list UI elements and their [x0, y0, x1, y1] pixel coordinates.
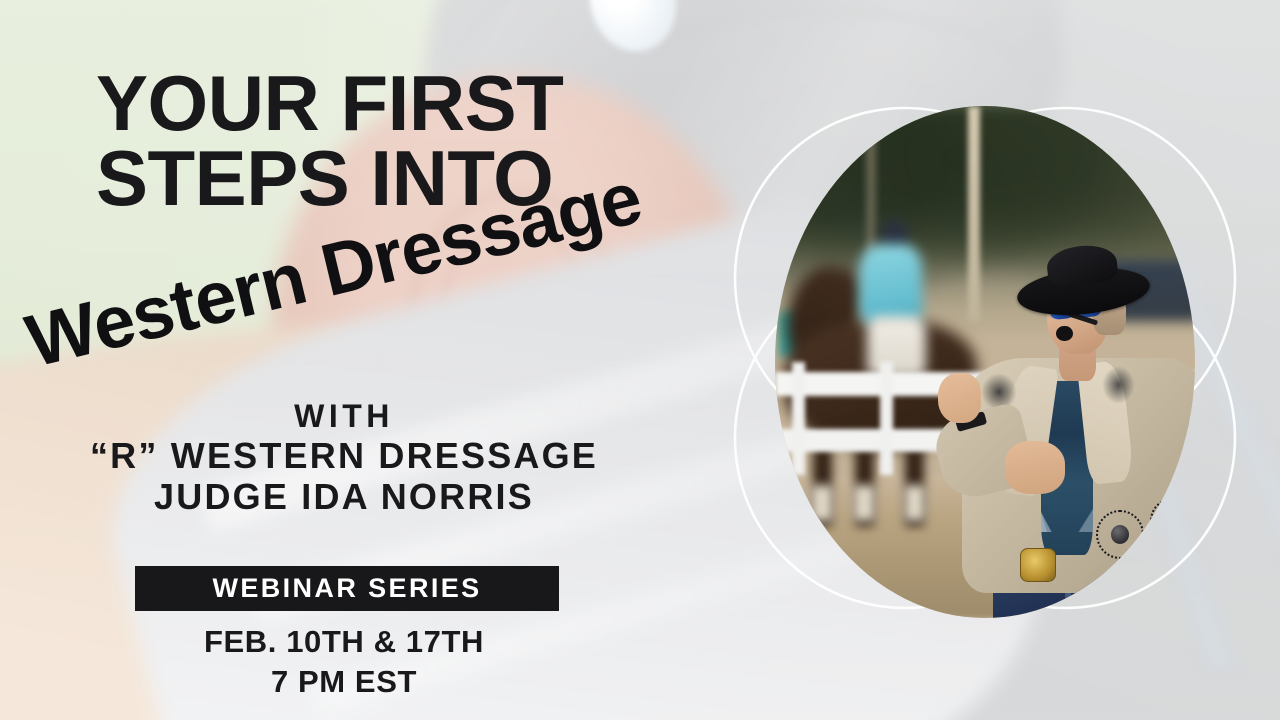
photo-jacket-embroidery-right: [1102, 366, 1135, 404]
webinar-series-badge-label: WEBINAR SERIES: [212, 573, 481, 604]
schedule-block: FEB. 10TH & 17TH 7 PM EST: [0, 622, 688, 703]
photo-rider-breeches: [867, 316, 926, 377]
photo-speaker-hands-clasped: [1005, 441, 1065, 494]
photo-jacket-concho-1: [1111, 525, 1129, 544]
headline-line-1: YOUR FIRST: [96, 66, 716, 141]
schedule-dates: FEB. 10TH & 17TH: [0, 622, 688, 662]
photo-horse-sock-3: [904, 485, 925, 521]
presenter-title-line: “R” WESTERN DRESSAGE: [0, 435, 688, 476]
photo-speaker-belt-buckle: [1020, 548, 1056, 582]
photo-jacket-concho-2: [1165, 512, 1182, 529]
presenter-name-line: JUDGE IDA NORRIS: [0, 476, 688, 517]
photo-speaker-hand-raised: [938, 373, 980, 422]
webinar-series-badge: WEBINAR SERIES: [135, 566, 559, 611]
photo-horse-sock-1: [811, 485, 833, 521]
photo-speaker-headset-mic: [1056, 326, 1072, 341]
webinar-promo-poster: YOUR FIRST STEPS INTO Western Dressage W…: [0, 0, 1280, 720]
script-title-wrap: Western Dressage: [22, 248, 742, 388]
presenter-block: WITH “R” WESTERN DRESSAGE JUDGE IDA NORR…: [0, 398, 688, 517]
photo-fence-post-2: [880, 362, 893, 475]
photo-speaker-figure: [926, 260, 1195, 618]
photo-rider-shirt: [859, 244, 922, 326]
photo-horse-sock-2: [853, 485, 875, 521]
photo-fence-post-1: [792, 362, 805, 475]
schedule-time: 7 PM EST: [0, 662, 688, 702]
speaker-photo: [775, 106, 1195, 618]
presenter-with-label: WITH: [0, 398, 688, 435]
